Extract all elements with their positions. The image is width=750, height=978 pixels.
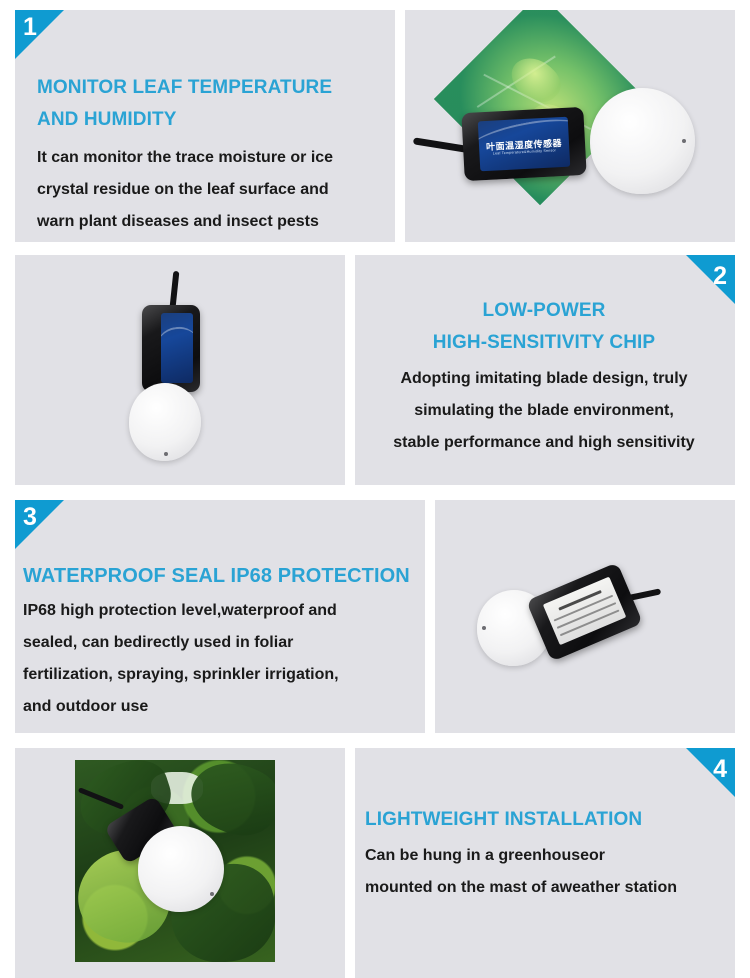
feature-body-line: IP68 high protection level,waterproof an… [23,595,421,627]
photo-hanging-sensor: 叶面温湿度传感器 [15,255,345,485]
sensor-front-label: 叶面温湿度传感器 [161,313,193,383]
feature-heading-line: AND HUMIDITY [37,104,385,136]
feature-body-line: stable performance and high sensitivity [365,427,723,459]
sensor-rear-label [543,577,626,646]
feature-heading-line: LOW-POWER [365,295,723,327]
badge-1: 1 [15,10,64,59]
feature-body-line: sealed, can bedirectly used in foliar [23,627,421,659]
sensor-housing: 叶面温湿度传感器 [142,305,200,392]
feature-body-line: Adopting imitating blade design, truly [365,363,723,395]
feature-body-line: simulating the blade environment, [365,395,723,427]
badge-number: 2 [713,264,727,289]
sensor-housing: 叶面温湿度传感器 Leaf Temperature&Humidity Senso… [461,107,586,181]
sensor-front-label: 叶面温湿度传感器 Leaf Temperature&Humidity Senso… [478,117,570,172]
feature-body-line: crystal residue on the leaf surface and [37,174,385,206]
feature-body-line: and outdoor use [23,691,421,723]
feature-panel-1: 1 MONITOR LEAF TEMPERATURE AND HUMIDITY … [15,10,395,242]
badge-number: 3 [23,505,37,530]
badge-number: 4 [713,757,727,782]
feature-body-line: fertilization, spraying, sprinkler irrig… [23,659,421,691]
feature-heading-line: HIGH-SENSITIVITY CHIP [365,327,723,359]
leaf-sensing-plate [138,826,224,912]
photo-rear-label-sensor [435,500,735,733]
feature-heading-line: LIGHTWEIGHT INSTALLATION [365,804,731,836]
photo-field-installation [15,748,345,978]
badge-4: 4 [686,748,735,797]
feature-heading-line: MONITOR LEAF TEMPERATURE [37,72,385,104]
product-feature-sheet: 1 MONITOR LEAF TEMPERATURE AND HUMIDITY … [0,0,750,978]
badge-number: 1 [23,15,37,40]
badge-triangle-icon [686,748,735,797]
feature-panel-4: 4 LIGHTWEIGHT INSTALLATION Can be hung i… [355,748,735,978]
feature-panel-2: 2 LOW-POWER HIGH-SENSITIVITY CHIP Adopti… [355,255,735,485]
feature-body-line: It can monitor the trace moisture or ice [37,142,385,174]
feature-heading-line: WATERPROOF SEAL IP68 PROTECTION [23,560,421,592]
photo-hero-sensor: 叶面温湿度传感器 Leaf Temperature&Humidity Senso… [405,10,735,242]
badge-3: 3 [15,500,64,549]
foliage-photo [75,760,275,962]
leaf-sensing-plate [590,88,695,194]
feature-body-line: Can be hung in a greenhouseor [365,840,731,872]
feature-body-line: mounted on the mast of aweather station [365,872,731,904]
feature-panel-3: 3 WATERPROOF SEAL IP68 PROTECTION IP68 h… [15,500,425,733]
feature-body-line: warn plant diseases and insect pests [37,206,385,238]
leaf-sensing-plate [129,383,201,461]
